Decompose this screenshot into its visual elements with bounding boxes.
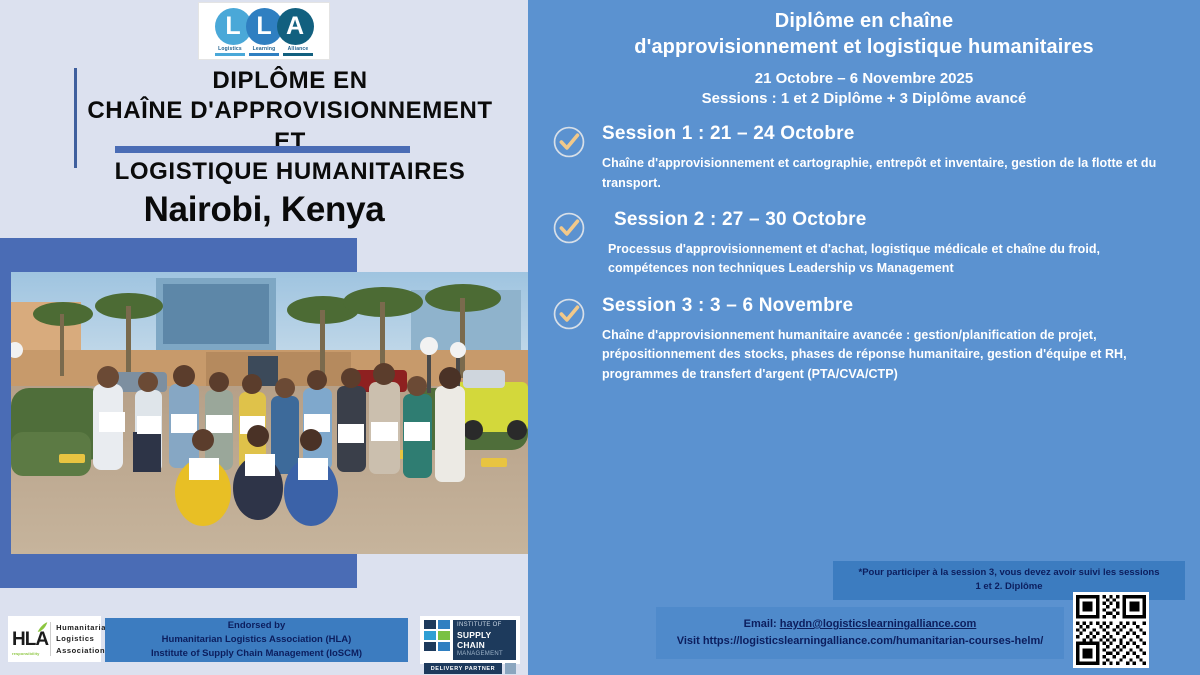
date-range: 21 Octobre – 6 Novembre 2025 xyxy=(554,69,1174,89)
session-1-description: Chaîne d'approvisionnement et cartograph… xyxy=(602,154,1182,193)
session-3-title: Session 3 : 3 – 6 Novembre xyxy=(602,295,1182,317)
lla-bar-alliance xyxy=(283,53,313,56)
footer-left: HLA responsibility Humanitarian Logistic… xyxy=(0,606,528,675)
website-link[interactable]: https://logisticslearningalliance.com/hu… xyxy=(703,635,1043,647)
ioscm-delivery-partner-badge: DELIVERY PARTNER xyxy=(424,663,502,674)
page-title: DIPLÔME EN CHAÎNE D'APPROVISIONNEMENT ET… xyxy=(60,66,500,188)
ioscm-logo-bottom: DELIVERY PARTNER xyxy=(424,663,516,674)
session-1-title: Session 1 : 21 – 24 Octobre xyxy=(602,123,1182,145)
website-line: Visit https://logisticslearningalliance.… xyxy=(662,633,1058,650)
location-heading: Nairobi, Kenya xyxy=(0,190,528,230)
session-2-description: Processus d'approvisionnement et d'achat… xyxy=(602,240,1182,279)
leaf-icon xyxy=(36,621,49,633)
lla-circle-alliance: A xyxy=(277,8,314,45)
session-2-title: Session 2 : 27 – 30 Octobre xyxy=(602,209,1182,231)
lla-logo-top: L L A Logistics Learning Alliance xyxy=(198,2,330,60)
check-circle-icon xyxy=(552,297,586,331)
hla-word-2: Logistics xyxy=(56,633,111,644)
hla-tagline: responsibility xyxy=(12,652,39,656)
qr-code[interactable] xyxy=(1073,592,1149,668)
lla-label-learning: Learning xyxy=(253,47,276,52)
ioscm-line-1: INSTITUTE OF xyxy=(457,622,512,630)
course-dates-block: 21 Octobre – 6 Novembre 2025 Sessions : … xyxy=(554,69,1174,110)
lla-word-logistics: Logistics xyxy=(215,47,245,56)
hla-logo: HLA responsibility Humanitarian Logistic… xyxy=(8,616,101,662)
right-title-line-2: d'approvisionnement et logistique humani… xyxy=(554,34,1174,60)
hla-word-1: Humanitarian xyxy=(56,622,111,633)
title-line-3: LOGISTIQUE HUMANITAIRES xyxy=(80,157,500,187)
left-panel: L L A Logistics Learning Alliance xyxy=(0,0,528,675)
endorsement-line-2: Humanitarian Logistics Association (HLA) xyxy=(162,633,352,647)
right-panel-title: Diplôme en chaîne d'approvisionnement et… xyxy=(554,8,1174,61)
check-circle-icon xyxy=(552,125,586,159)
hla-monogram: HLA responsibility xyxy=(12,630,48,649)
title-vertical-accent-bar xyxy=(74,68,77,168)
left-title-block: DIPLÔME EN CHAÎNE D'APPROVISIONNEMENT ET… xyxy=(60,66,500,188)
check-circle-icon xyxy=(552,211,586,245)
sessions-summary: Sessions : 1 et 2 Diplôme + 3 Diplôme av… xyxy=(554,89,1174,109)
poster-canvas: L L A Logistics Learning Alliance xyxy=(0,0,1200,675)
right-title-line-1: Diplôme en chaîne xyxy=(554,8,1174,34)
group-photo xyxy=(11,272,528,554)
title-line-1: DIPLÔME EN xyxy=(80,66,500,96)
lla-bar-logistics xyxy=(215,53,245,56)
right-panel: Diplôme en chaîne d'approvisionnement et… xyxy=(528,0,1200,675)
ioscm-accent-square xyxy=(505,663,516,674)
lla-label-alliance: Alliance xyxy=(288,47,309,52)
email-link[interactable]: haydn@logisticslearningalliance.com xyxy=(780,618,977,630)
ioscm-line-2: SUPPLY CHAIN xyxy=(457,630,512,651)
visit-label: Visit xyxy=(677,635,703,647)
ioscm-logo: INSTITUTE OF SUPPLY CHAIN MANAGEMENT DEL… xyxy=(420,616,520,664)
title-underline-bar xyxy=(115,146,410,153)
lla-bar-learning xyxy=(249,53,279,56)
endorsement-box: Endorsed by Humanitarian Logistics Assoc… xyxy=(105,618,408,662)
ioscm-line-3: MANAGEMENT xyxy=(457,651,512,659)
endorsement-line-3: Institute of Supply Chain Management (Io… xyxy=(151,647,362,661)
ioscm-wordmark: INSTITUTE OF SUPPLY CHAIN MANAGEMENT xyxy=(453,620,516,660)
contact-box: Email: haydn@logisticslearningalliance.c… xyxy=(656,607,1064,659)
note-line-1: *Pour participer à la session 3, vous de… xyxy=(841,566,1177,580)
email-label: Email: xyxy=(744,618,780,630)
endorsement-line-1: Endorsed by xyxy=(228,619,286,633)
email-line: Email: haydn@logisticslearningalliance.c… xyxy=(662,616,1058,633)
group-photo-image xyxy=(11,272,528,554)
lla-word-alliance: Alliance xyxy=(283,47,313,56)
ioscm-square-grid xyxy=(424,620,450,660)
lla-logo-circles: L L A xyxy=(218,8,311,45)
session-item-3: Session 3 : 3 – 6 Novembre Chaîne d'appr… xyxy=(528,295,1200,384)
session-item-1: Session 1 : 21 – 24 Octobre Chaîne d'app… xyxy=(528,123,1200,193)
sessions-list: Session 1 : 21 – 24 Octobre Chaîne d'app… xyxy=(528,123,1200,384)
hla-word-3: Association xyxy=(56,645,111,656)
lla-logo-words: Logistics Learning Alliance xyxy=(213,47,315,56)
session-3-description: Chaîne d'approvisionnement humanitaire a… xyxy=(602,326,1182,384)
qr-code-image xyxy=(1076,595,1146,665)
session-item-2: Session 2 : 27 – 30 Octobre Processus d'… xyxy=(528,209,1200,279)
hla-wordmark: Humanitarian Logistics Association xyxy=(50,622,111,656)
lla-word-learning: Learning xyxy=(249,47,279,56)
ioscm-logo-top: INSTITUTE OF SUPPLY CHAIN MANAGEMENT xyxy=(424,620,516,660)
lla-label-logistics: Logistics xyxy=(218,47,242,52)
